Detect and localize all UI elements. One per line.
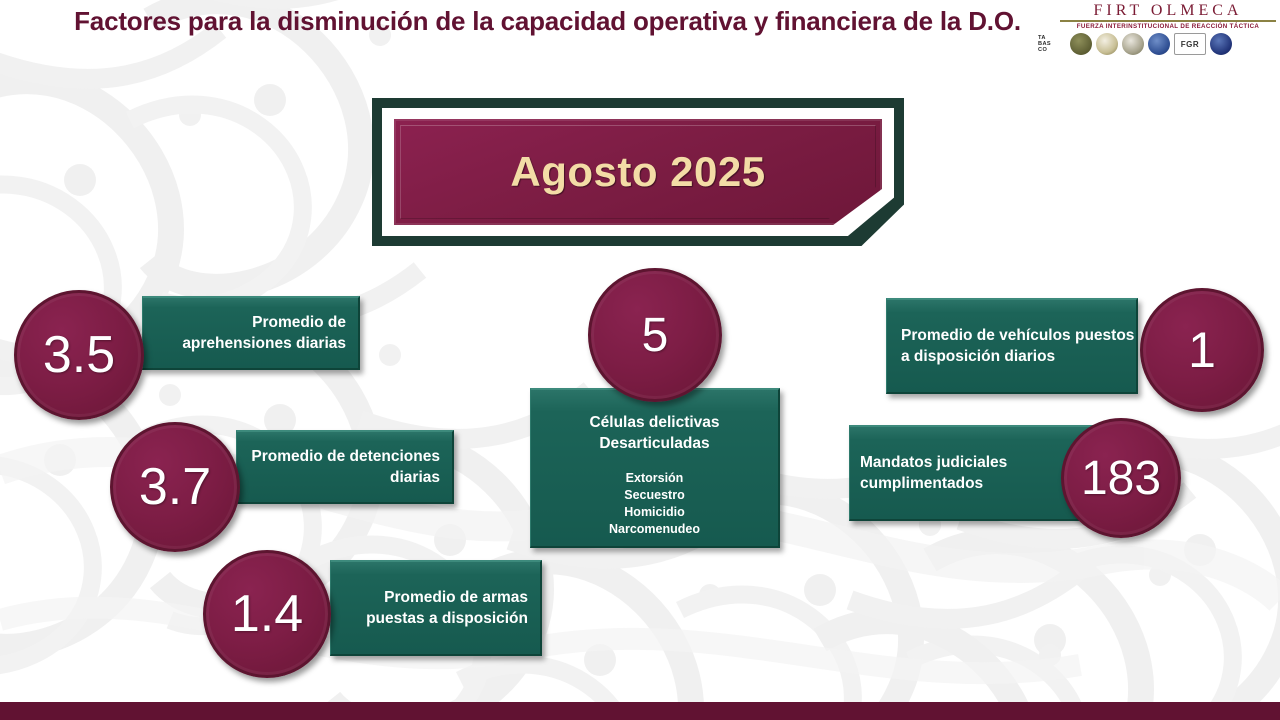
stat-label-box: Promedio de detenciones diarias xyxy=(236,430,454,504)
semar-seal-icon xyxy=(1096,33,1118,55)
stat-value-circle: 1 xyxy=(1140,288,1264,412)
stat-label-text: Células delictivas Desarticuladas xyxy=(539,412,770,454)
guardia-nacional-seal-icon xyxy=(1210,33,1232,55)
firt-olmeca-logo: FIRT OLMECA FUERZA INTERINSTITUCIONAL DE… xyxy=(1038,2,1276,56)
footer-bar xyxy=(0,702,1280,720)
stat-label-box: Promedio de armas puestas a disposición xyxy=(330,560,542,656)
fgr-seal-icon: FGR xyxy=(1174,33,1206,55)
sedena-seal-icon xyxy=(1070,33,1092,55)
stat-value-circle: 3.7 xyxy=(110,422,240,552)
stat-value-text: 1 xyxy=(1188,321,1216,379)
logo-title: FIRT OLMECA xyxy=(1038,2,1276,19)
slide-canvas: Factores para la disminución de la capac… xyxy=(0,0,1280,720)
fgr-label: FGR xyxy=(1181,40,1199,49)
banner-plaque: Agosto 2025 xyxy=(394,119,882,225)
stat-label-box: Células delictivas Desarticuladas Extors… xyxy=(530,388,780,548)
stat-value-circle: 1.4 xyxy=(203,550,331,678)
crime-type-item: Secuestro xyxy=(609,487,700,504)
tabasco-line-3: CO xyxy=(1038,47,1066,53)
stat-label-box: Promedio de aprehensiones diarias xyxy=(142,296,360,370)
stat-label-box: Promedio de vehículos puestos a disposic… xyxy=(886,298,1138,394)
page-title: Factores para la disminución de la capac… xyxy=(60,6,1035,37)
crime-type-list: Extorsión Secuestro Homicidio Narcomenud… xyxy=(609,470,700,538)
agency-seal-row: TA BAS CO FGR xyxy=(1038,32,1276,56)
gobierno-mexico-seal-icon xyxy=(1122,33,1144,55)
stat-value-circle: 3.5 xyxy=(14,290,144,420)
stat-value-text: 3.7 xyxy=(139,457,211,517)
banner-label: Agosto 2025 xyxy=(510,148,765,196)
page-title-text: Factores para la disminución de la capac… xyxy=(60,6,1035,37)
stat-value-text: 183 xyxy=(1081,451,1161,506)
stat-value-circle: 183 xyxy=(1061,418,1181,538)
logo-subtitle: FUERZA INTERINSTITUCIONAL DE REACCIÓN TÁ… xyxy=(1038,22,1276,31)
stat-value-text: 1.4 xyxy=(231,584,303,644)
month-banner: Agosto 2025 xyxy=(372,98,904,246)
crime-type-item: Narcomenudeo xyxy=(609,521,700,538)
stat-label-text: Promedio de aprehensiones diarias xyxy=(143,312,346,354)
tabasco-logo-icon: TA BAS CO xyxy=(1038,32,1066,56)
stat-label-text: Promedio de armas puestas a disposición xyxy=(331,587,528,629)
stat-value-circle: 5 xyxy=(588,268,722,402)
stat-label-text: Promedio de detenciones diarias xyxy=(237,446,440,488)
crime-type-item: Extorsión xyxy=(609,470,700,487)
stat-label-text: Promedio de vehículos puestos a disposic… xyxy=(901,325,1136,367)
crime-type-item: Homicidio xyxy=(609,504,700,521)
stat-value-text: 3.5 xyxy=(43,325,115,385)
policia-seal-icon xyxy=(1148,33,1170,55)
stat-value-text: 5 xyxy=(642,308,669,363)
